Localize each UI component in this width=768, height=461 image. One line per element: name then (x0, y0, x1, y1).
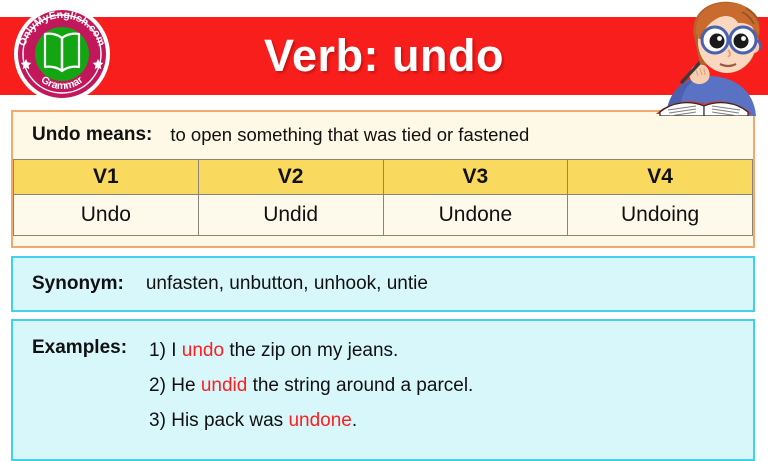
synonym-text: unfasten, unbutton, unhook, untie (146, 273, 428, 295)
example-text-after: the string around a parcel. (247, 375, 473, 396)
verb-form-v1: Undo (14, 195, 199, 236)
verb-form-v2: Undid (198, 195, 383, 236)
verb-forms-table: V1 V2 V3 V4 Undo Undid Undone Undoing (13, 159, 753, 236)
examples-label: Examples: (32, 337, 127, 359)
example-number: 1) (149, 340, 166, 361)
verb-form-v4: Undoing (568, 195, 753, 236)
table-header-v3: V3 (383, 160, 568, 195)
table-header-v4: V4 (568, 160, 753, 195)
example-highlight: undo (182, 340, 224, 361)
meaning-text: to open something that was tied or faste… (170, 124, 529, 146)
thinking-student-icon (638, 0, 768, 116)
examples-panel: Examples: 1) I undo the zip on my jeans.… (11, 319, 755, 461)
site-logo: OnlyMyEnglish.com Grammar (12, 4, 112, 104)
example-text-before: His pack was (171, 410, 288, 431)
synonym-label: Synonym: (32, 273, 124, 295)
example-number: 2) (149, 375, 166, 396)
meaning-label: Undo means: (32, 124, 152, 146)
verb-form-v3: Undone (383, 195, 568, 236)
synonym-panel: Synonym: unfasten, unbutton, unhook, unt… (11, 256, 755, 312)
example-text-after: the zip on my jeans. (224, 340, 398, 361)
example-text-before: I (171, 340, 182, 361)
student-mascot (638, 0, 768, 116)
table-row: Undo Undid Undone Undoing (14, 195, 753, 236)
header-banner: Verb: undo OnlyMyEnglish.com Grammar (0, 0, 768, 108)
logo-badge-icon: OnlyMyEnglish.com Grammar (12, 4, 112, 104)
meaning-row: Undo means: to open something that was t… (13, 112, 753, 158)
list-item: 3) His pack was undone. (149, 403, 473, 438)
table-header-row: V1 V2 V3 V4 (14, 160, 753, 195)
definition-panel: Undo means: to open something that was t… (11, 110, 755, 248)
example-highlight: undone (288, 410, 351, 431)
examples-list: 1) I undo the zip on my jeans. 2) He und… (149, 333, 473, 438)
list-item: 2) He undid the string around a parcel. (149, 368, 473, 403)
list-item: 1) I undo the zip on my jeans. (149, 333, 473, 368)
example-text-after: . (352, 410, 357, 431)
table-header-v2: V2 (198, 160, 383, 195)
example-text-before: He (171, 375, 201, 396)
example-number: 3) (149, 410, 166, 431)
example-highlight: undid (201, 375, 248, 396)
table-header-v1: V1 (14, 160, 199, 195)
